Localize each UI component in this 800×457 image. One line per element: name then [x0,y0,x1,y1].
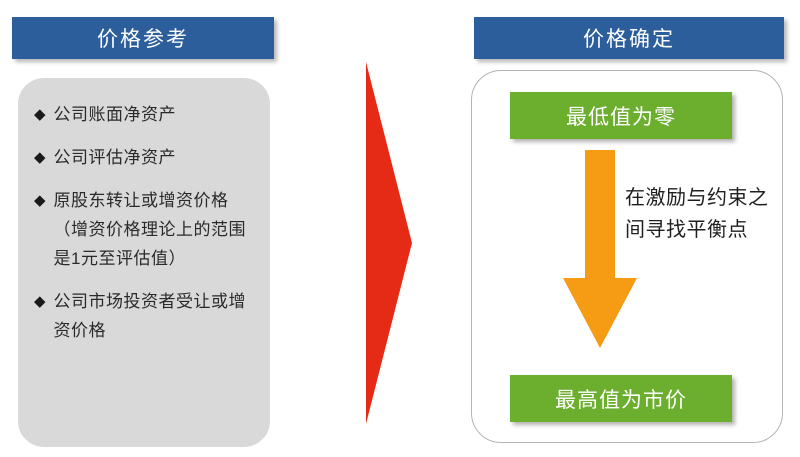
list-item: ◆ 原股东转让或增资价格（增资价格理论上的范围是1元至评估值） [34,186,254,273]
arrow-down-icon [563,150,637,348]
max-value-box: 最高值为市价 [510,375,732,422]
list-item-label: 原股东转让或增资价格（增资价格理论上的范围是1元至评估值） [54,186,254,273]
chevron-right-arrow-icon [360,62,412,424]
right-header-banner: 价格确定 [474,17,784,59]
price-reference-panel: ◆ 公司账面净资产 ◆ 公司评估净资产 ◆ 原股东转让或增资价格（增资价格理论上… [18,78,270,447]
diamond-bullet-icon: ◆ [34,287,46,316]
diamond-bullet-icon: ◆ [34,143,46,172]
list-item: ◆ 公司账面净资产 [34,100,254,129]
min-value-label: 最低值为零 [566,101,676,131]
right-header-title: 价格确定 [583,23,675,53]
diamond-bullet-icon: ◆ [34,100,46,129]
left-header-banner: 价格参考 [12,17,274,59]
list-item-label: 公司市场投资者受让或增资价格 [54,287,254,345]
diamond-bullet-icon: ◆ [34,186,46,215]
list-item: ◆ 公司评估净资产 [34,143,254,172]
max-value-label: 最高值为市价 [555,384,687,414]
balance-caption: 在激励与约束之间寻找平衡点 [625,182,785,246]
list-item-label: 公司账面净资产 [54,100,177,129]
list-item: ◆ 公司市场投资者受让或增资价格 [34,287,254,345]
left-header-title: 价格参考 [97,23,189,53]
slide-canvas: 价格参考 ◆ 公司账面净资产 ◆ 公司评估净资产 ◆ 原股东转让或增资价格（增资… [0,0,800,457]
list-item-label: 公司评估净资产 [54,143,177,172]
price-reference-list: ◆ 公司账面净资产 ◆ 公司评估净资产 ◆ 原股东转让或增资价格（增资价格理论上… [34,100,254,345]
min-value-box: 最低值为零 [510,92,732,139]
